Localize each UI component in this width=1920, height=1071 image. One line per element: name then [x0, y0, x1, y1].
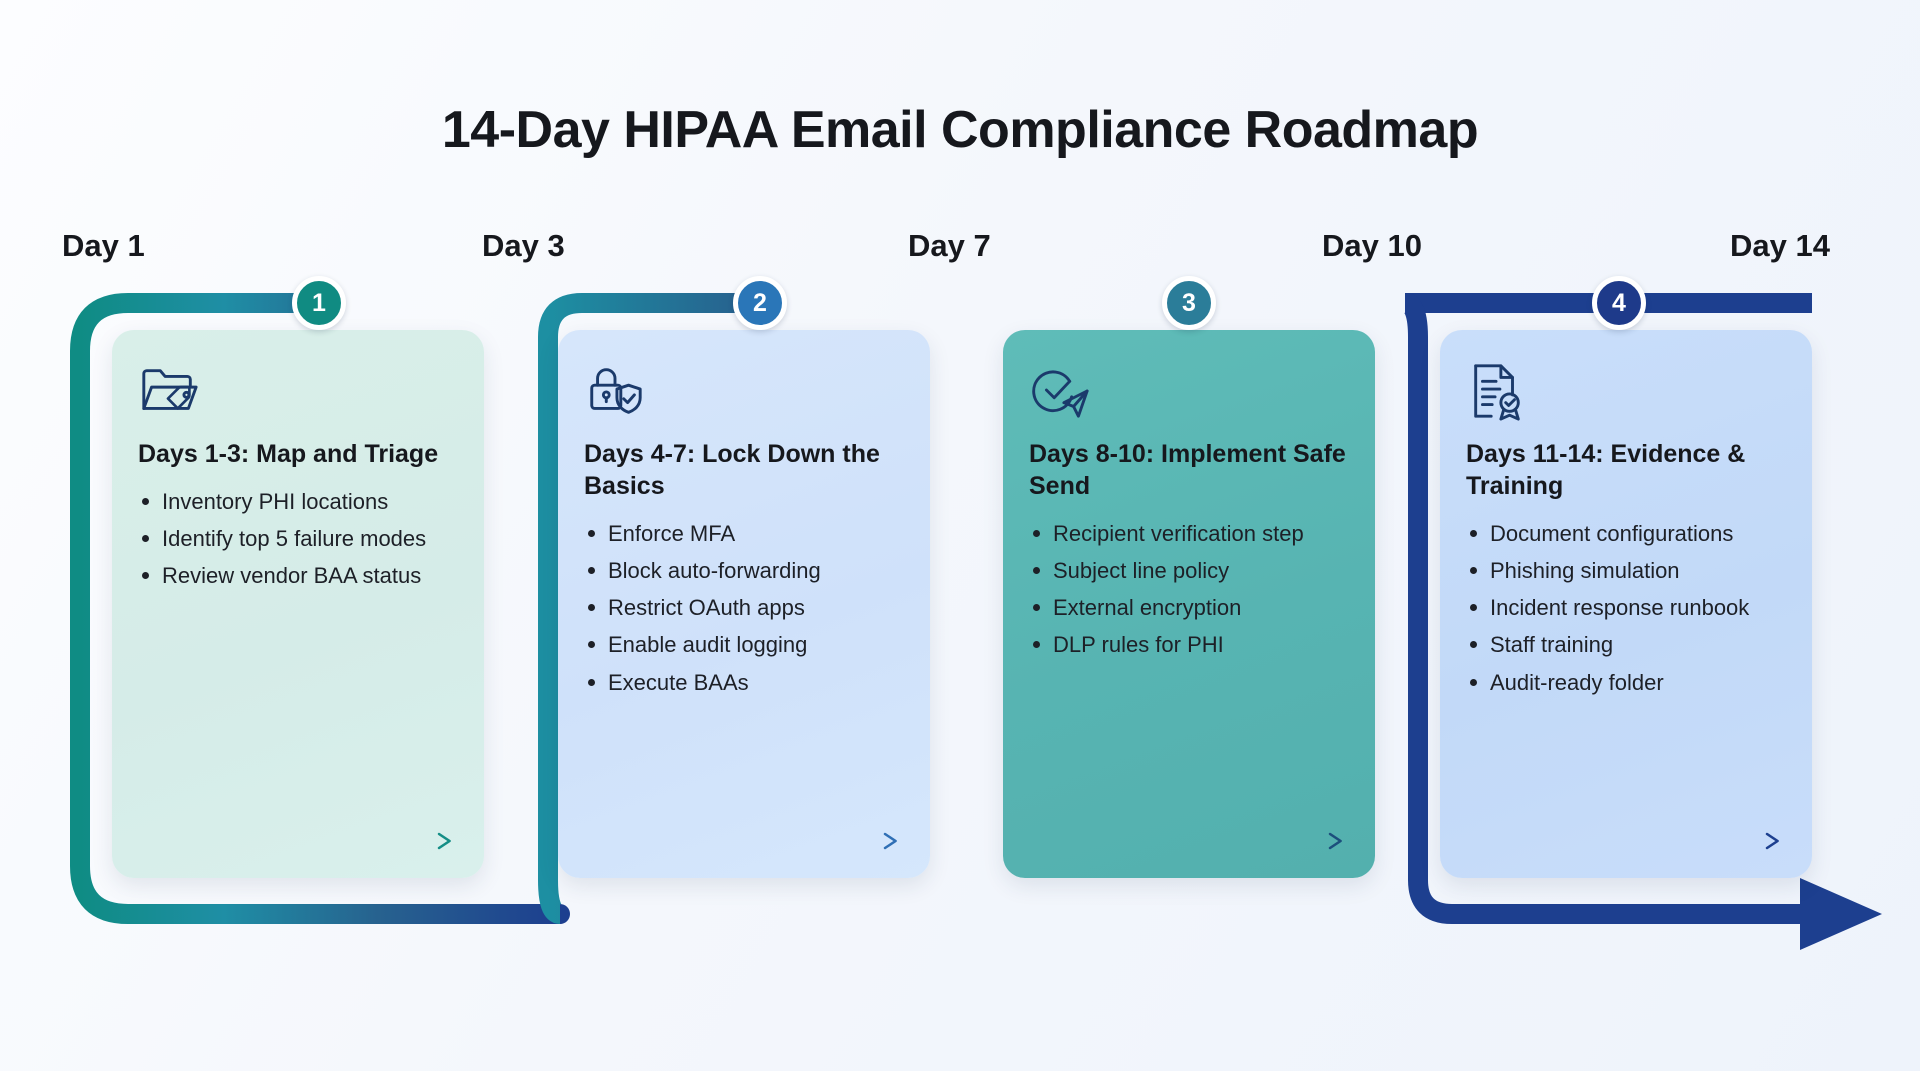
day-label-1: Day 3: [482, 228, 565, 264]
card-progress-arrow-icon: [588, 830, 904, 852]
check-send-icon: [1029, 360, 1091, 422]
list-item: Enforce MFA: [584, 520, 904, 548]
certificate-doc-icon: [1466, 360, 1528, 422]
day-label-3: Day 10: [1322, 228, 1422, 264]
list-item: Restrict OAuth apps: [584, 594, 904, 622]
step-badge-1: 1: [292, 276, 346, 330]
list-item: Identify top 5 failure modes: [138, 525, 458, 553]
lock-shield-icon: [584, 360, 646, 422]
roadmap-card-2[interactable]: Days 4-7: Lock Down the BasicsEnforce MF…: [558, 330, 930, 878]
day-label-4: Day 14: [1730, 228, 1830, 264]
list-item: Staff training: [1466, 631, 1786, 659]
page-title: 14-Day HIPAA Email Compliance Roadmap: [0, 100, 1920, 160]
folder-tag-icon: [138, 360, 200, 422]
infographic-canvas: 14-Day HIPAA Email Compliance Roadmap Da…: [0, 0, 1920, 1071]
card-bullet-list: Enforce MFABlock auto-forwardingRestrict…: [584, 520, 904, 697]
list-item: Inventory PHI locations: [138, 488, 458, 516]
list-item: Phishing simulation: [1466, 557, 1786, 585]
step-badge-4: 4: [1592, 276, 1646, 330]
roadmap-card-4[interactable]: Days 11-14: Evidence & TrainingDocument …: [1440, 330, 1812, 878]
card-progress-arrow-icon: [1470, 830, 1786, 852]
card-progress-arrow-icon: [1033, 830, 1349, 852]
list-item: Document configurations: [1466, 520, 1786, 548]
list-item: Enable audit logging: [584, 631, 904, 659]
list-item: Review vendor BAA status: [138, 562, 458, 590]
card-bullet-list: Recipient verification stepSubject line …: [1029, 520, 1349, 660]
card-bullet-list: Document configurationsPhishing simulati…: [1466, 520, 1786, 697]
card-progress-arrow-icon: [142, 830, 458, 852]
card-bullet-list: Inventory PHI locationsIdentify top 5 fa…: [138, 488, 458, 590]
roadmap-card-1[interactable]: Days 1-3: Map and TriageInventory PHI lo…: [112, 330, 484, 878]
card-title: Days 4-7: Lock Down the Basics: [584, 438, 904, 502]
list-item: Execute BAAs: [584, 669, 904, 697]
card-title: Days 11-14: Evidence & Training: [1466, 438, 1786, 502]
roadmap-card-3[interactable]: Days 8-10: Implement Safe SendRecipient …: [1003, 330, 1375, 878]
list-item: Audit-ready folder: [1466, 669, 1786, 697]
card-title: Days 8-10: Implement Safe Send: [1029, 438, 1349, 502]
list-item: Block auto-forwarding: [584, 557, 904, 585]
day-label-2: Day 7: [908, 228, 991, 264]
step-badge-3: 3: [1162, 276, 1216, 330]
list-item: Recipient verification step: [1029, 520, 1349, 548]
day-label-0: Day 1: [62, 228, 145, 264]
list-item: External encryption: [1029, 594, 1349, 622]
list-item: Incident response runbook: [1466, 594, 1786, 622]
list-item: DLP rules for PHI: [1029, 631, 1349, 659]
day-ruler: Day 1Day 3Day 7Day 10Day 14: [0, 228, 1920, 272]
card-title: Days 1-3: Map and Triage: [138, 438, 458, 470]
roadmap-cards: Days 1-3: Map and TriageInventory PHI lo…: [0, 330, 1920, 890]
list-item: Subject line policy: [1029, 557, 1349, 585]
step-badge-2: 2: [733, 276, 787, 330]
